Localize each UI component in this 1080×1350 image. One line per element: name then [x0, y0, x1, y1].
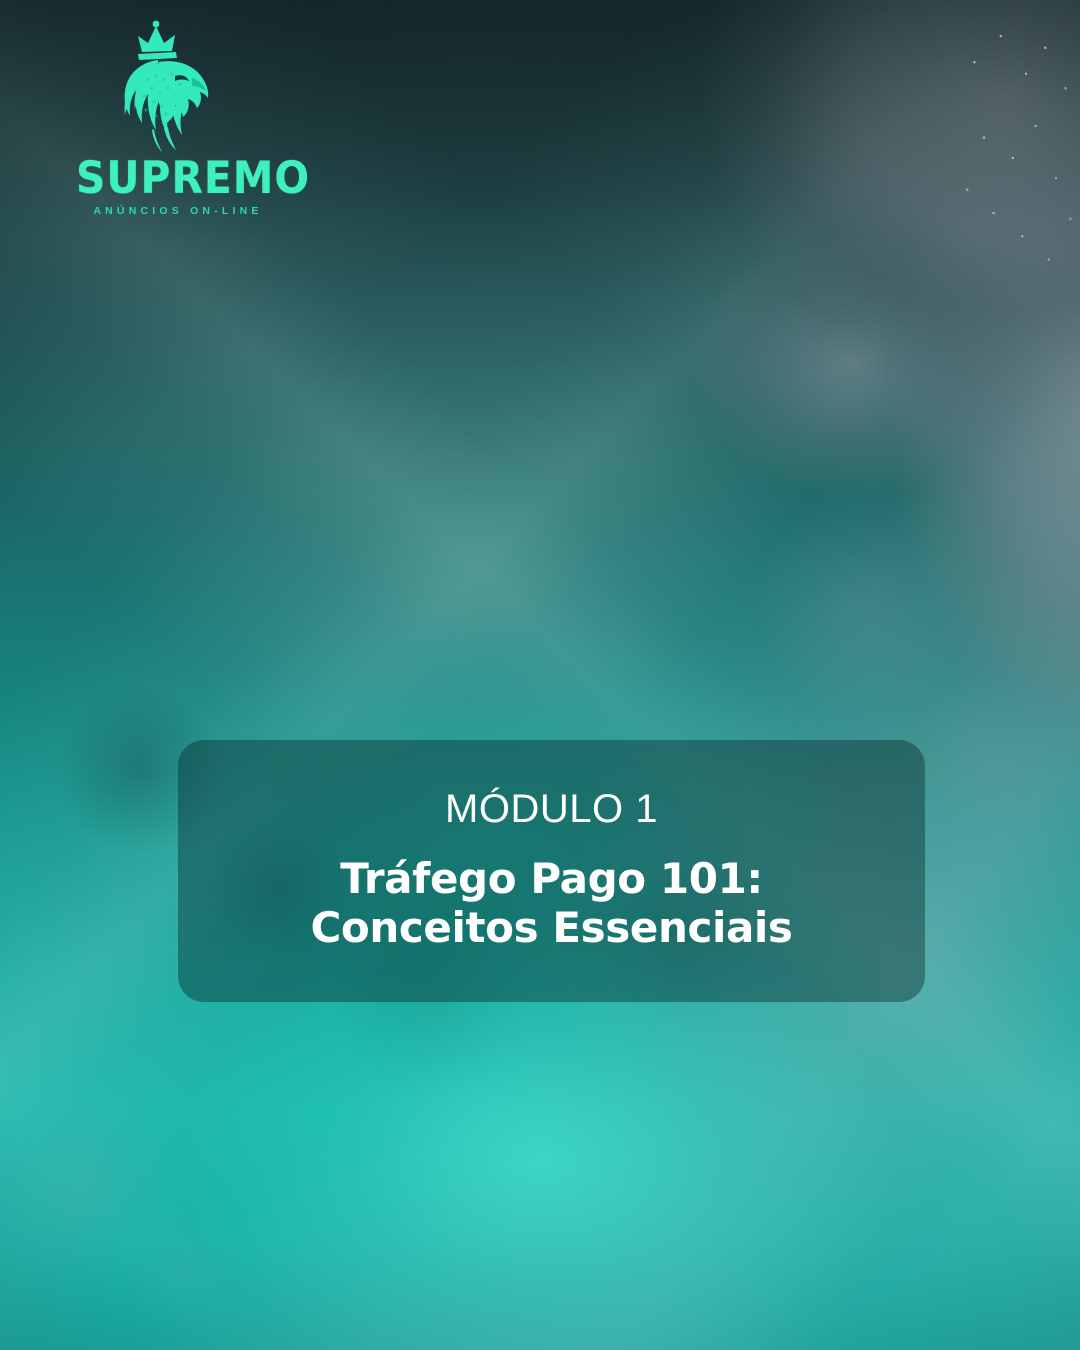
social-post-canvas: SUPREMO ANÚNCIOS ON-LINE MÓDULO 1 Tráfeg… — [0, 0, 1080, 1350]
module-card: MÓDULO 1 Tráfego Pago 101: Conceitos Ess… — [178, 740, 925, 1002]
background-speckle-dots — [960, 10, 1080, 300]
module-title: Tráfego Pago 101: Conceitos Essenciais — [232, 855, 872, 952]
brand-tagline: ANÚNCIOS ON-LINE — [78, 206, 278, 217]
brand-wordmark: SUPREMO — [76, 156, 280, 201]
module-eyebrow-label: MÓDULO 1 — [445, 789, 658, 829]
crowned-lion-head-icon — [96, 18, 236, 154]
brand-logo: SUPREMO ANÚNCIOS ON-LINE — [78, 18, 278, 218]
